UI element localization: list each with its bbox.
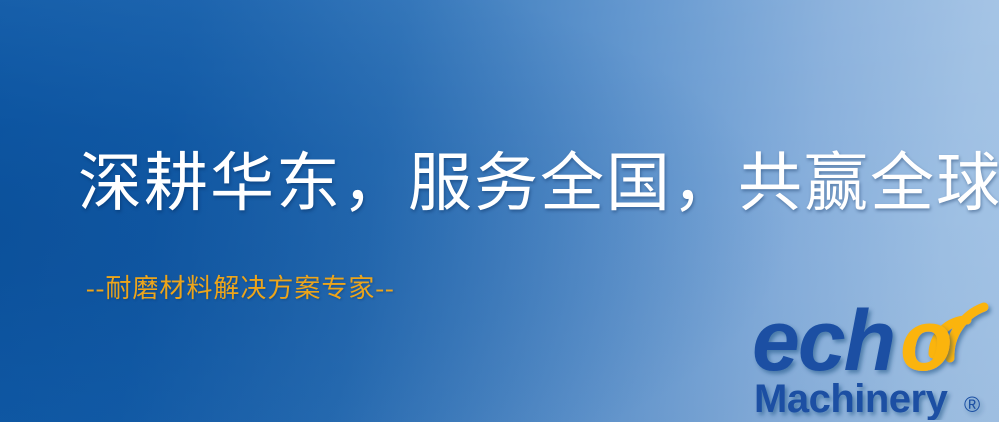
banner-headline: 深耕华东，服务全国，共赢全球 xyxy=(78,150,999,217)
logo-machinery-text: Machinery xyxy=(754,377,949,420)
banner-subtitle: --耐磨材料解决方案专家-- xyxy=(86,268,395,305)
hero-banner: 深耕华东，服务全国，共赢全球 --耐磨材料解决方案专家-- ech o Mach… xyxy=(0,0,999,422)
logo-artwork: ech o Machinery ® xyxy=(752,292,996,420)
logo-wordmark-machinery: Machinery ® xyxy=(754,377,980,420)
logo-letter-e-c-h: ech xyxy=(752,293,894,389)
logo-wordmark-echo: ech o xyxy=(752,293,953,389)
logo-registered-mark: ® xyxy=(964,392,980,417)
echo-machinery-logo: ech o Machinery ® xyxy=(752,292,996,420)
logo-letter-o: o xyxy=(900,293,953,389)
